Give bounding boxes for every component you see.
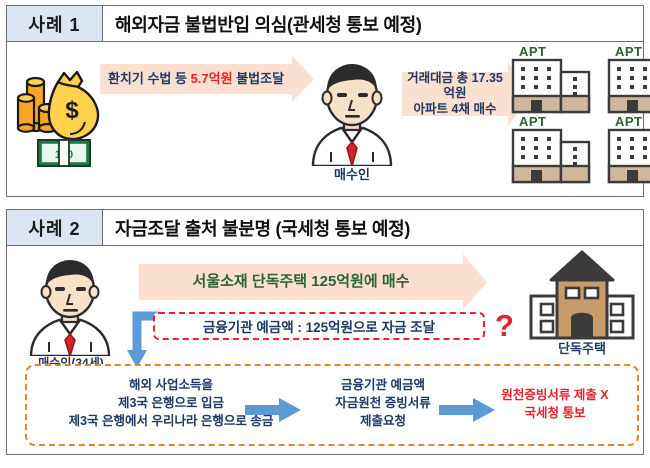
arrow-1-text-post: 불법조달: [233, 71, 284, 86]
case-1-tag: 사례 1: [7, 6, 103, 41]
flow-col-result: 원천증빙서류 제출 X 국세청 통보: [479, 386, 631, 422]
funding-source-box: 금융기관 예금액 : 125억원으로 자금 조달: [153, 312, 485, 340]
apartment-icon-1: APT: [511, 44, 597, 112]
arrow-2-line-1: 거래대금 총 17.35억원: [407, 71, 503, 101]
svg-text:$: $: [65, 97, 79, 124]
case-2-body: 매수인(34세) 서울소재 단독주택 125억원에 매수: [7, 246, 643, 454]
case-1-arrow-1: 환치기 수법 등 5.7억원 불법조달: [100, 64, 292, 94]
case-1-arrow-2: 거래대금 총 17.35억원 아파트 4채 매수: [402, 72, 508, 116]
case-2-purchase-arrow: 서울소재 단독주택 125억원에 매수: [139, 264, 463, 300]
case-2-panel: 사례 2 자금조달 출처 불분명 (국세청 통보 예정): [6, 209, 644, 455]
money-bag-icon: $ 100: [15, 60, 107, 172]
apartment-icon-3: APT: [511, 114, 597, 182]
case-1-body: $ 100 환치기 수법 등 5.7억원 불법조달: [7, 42, 643, 196]
apt-label-4: APT: [615, 114, 643, 129]
case-2-house-label: 단독주택: [527, 338, 637, 357]
buyer-person-icon-2: [23, 254, 119, 356]
apartment-icon-2: APT: [607, 44, 650, 112]
buyer-person-icon: [303, 56, 401, 166]
arrow-1-amount: 5.7억원: [191, 71, 233, 86]
flow-box: 해외 사업소득을 제3국 은행으로 입금 제3국 은행에서 우리나라 은행으로 …: [25, 364, 639, 446]
apt-label-3: APT: [519, 114, 547, 129]
case-2-header: 사례 2 자금조달 출처 불분명 (국세청 통보 예정): [7, 210, 643, 246]
infographic-page: 사례 1 해외자금 불법반입 의심(관세청 통보 예정): [0, 0, 650, 468]
case-2-tag: 사례 2: [7, 210, 103, 245]
flow-col-result-line-1: 원천증빙서류 제출 X: [479, 386, 631, 404]
case-1-panel: 사례 1 해외자금 불법반입 의심(관세청 통보 예정): [6, 5, 644, 197]
question-mark-icon: ?: [495, 308, 514, 344]
case-2-purchase-arrow-head: [463, 254, 487, 310]
flow-col-result-line-2: 국세청 통보: [479, 404, 631, 422]
funding-source-text: 금융기관 예금액 : 125억원으로 자금 조달: [203, 316, 435, 336]
apartment-icon-4: APT: [607, 114, 650, 182]
case-2-title: 자금조달 출처 불분명 (국세청 통보 예정): [103, 210, 643, 245]
arrow-1-text-pre: 환치기 수법 등: [108, 71, 191, 86]
apt-label-2: APT: [615, 44, 643, 59]
case-1-title: 해외자금 불법반입 의심(관세청 통보 예정): [103, 6, 643, 41]
flow-arrow-1: [245, 398, 301, 427]
arrow-2-line-2: 아파트 4채 매수: [414, 102, 497, 116]
flow-col-request-line-1: 금융기관 예금액: [303, 376, 463, 394]
apartment-group: APT: [511, 44, 650, 182]
case-1-header: 사례 1 해외자금 불법반입 의심(관세청 통보 예정): [7, 6, 643, 42]
flow-col-source-line-1: 해외 사업소득을: [33, 376, 309, 394]
case-1-person-label: 매수인: [303, 164, 401, 183]
case-2-purchase-arrow-text: 서울소재 단독주택 125억원에 매수: [193, 273, 410, 292]
apt-label-1: APT: [519, 44, 547, 59]
detached-house-icon: [527, 248, 637, 340]
